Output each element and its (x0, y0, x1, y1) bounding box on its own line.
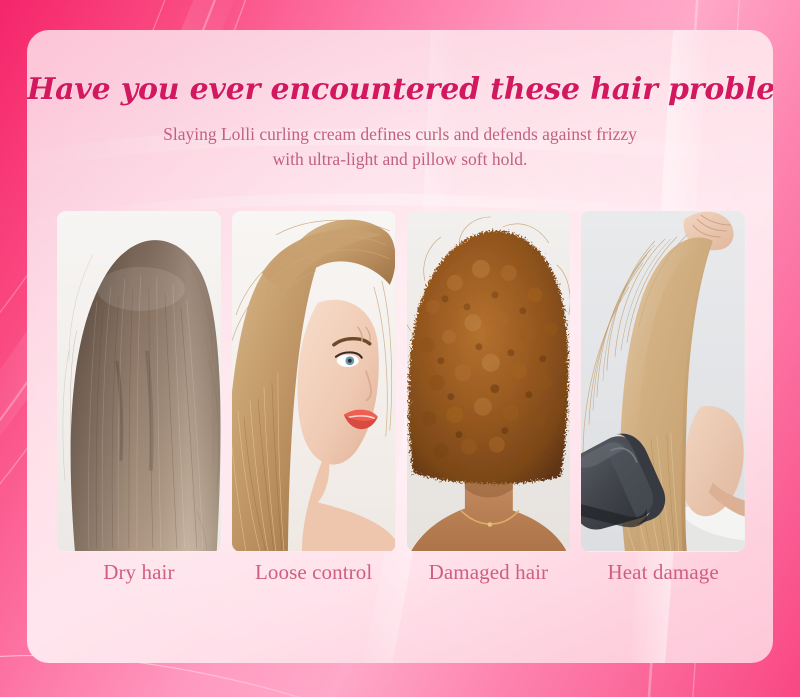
caption-damaged-hair: Damaged hair (407, 560, 571, 585)
gallery-item-heat-damage[interactable] (581, 211, 745, 552)
caption-loose-control: Loose control (232, 560, 396, 585)
photo-dry-hair-icon (57, 211, 221, 551)
promo-card: Have you ever encountered these hair pro… (27, 30, 773, 663)
page-subtitle: Slaying Lolli curling cream defines curl… (107, 122, 693, 172)
photo-loose-control-icon (232, 211, 396, 551)
caption-dry-hair: Dry hair (57, 560, 221, 585)
caption-heat-damage: Heat damage (581, 560, 745, 585)
photo-damaged-hair-icon (407, 211, 571, 551)
gallery-item-damaged-hair[interactable] (407, 211, 571, 552)
page-subtitle-line-2: with ultra-light and pillow soft hold. (107, 147, 693, 172)
gallery-item-dry-hair[interactable] (57, 211, 221, 552)
page-title: Have you ever encountered these hair pro… (27, 72, 773, 107)
hair-problem-gallery (57, 211, 745, 552)
gallery-captions: Dry hair Loose control Damaged hair Heat… (57, 560, 745, 585)
photo-heat-damage-icon (581, 211, 745, 551)
gallery-item-loose-control[interactable] (232, 211, 396, 552)
page-subtitle-line-1: Slaying Lolli curling cream defines curl… (163, 124, 637, 144)
